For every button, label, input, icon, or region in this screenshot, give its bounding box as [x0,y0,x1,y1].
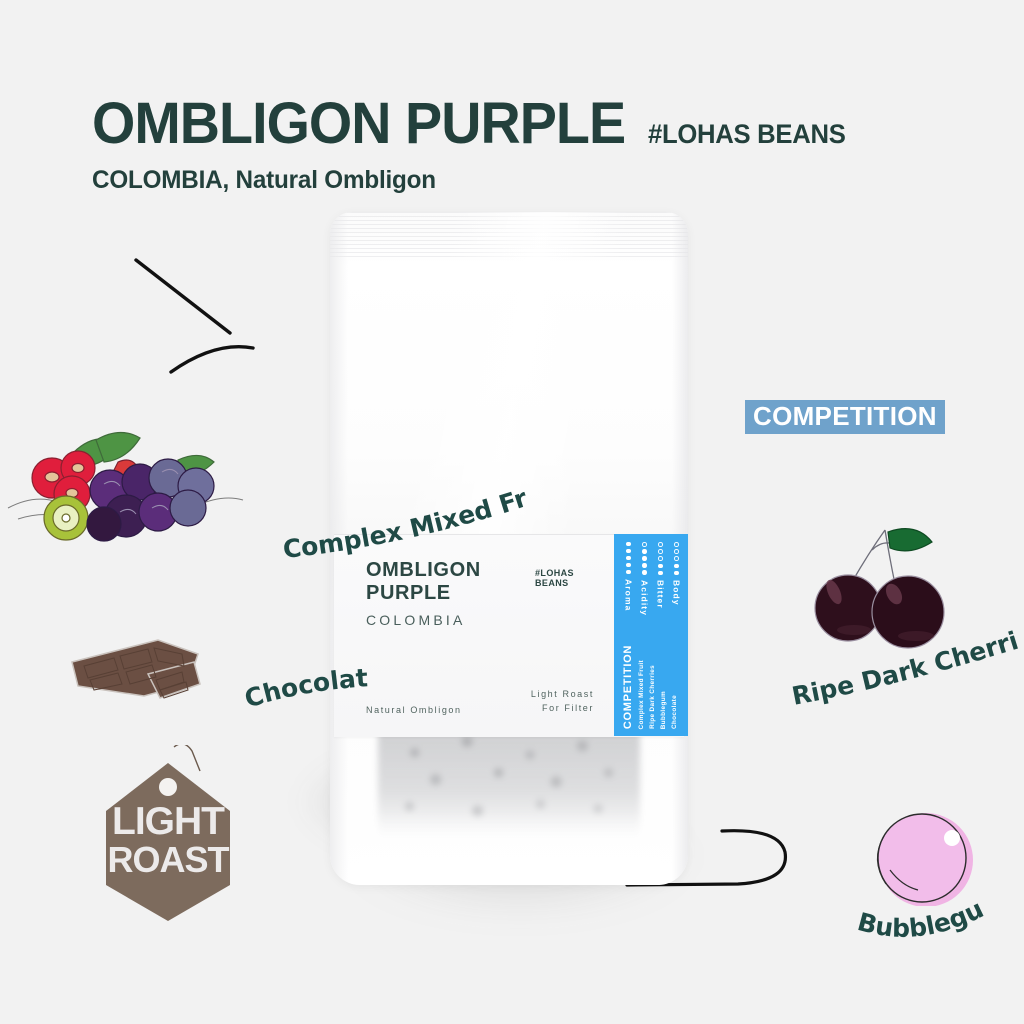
rating-label-bitter: Bitter [656,580,666,609]
callout-label-chocolate: Chocolate [242,666,432,718]
label-roast-method: For Filter [531,702,594,716]
rating-label-body: Body [672,580,682,606]
header: OMBLIGON PURPLE #LOHAS BEANS COLOMBIA, N… [92,95,992,195]
chocolate-bar-icon [48,628,238,718]
cherry-leaf-icon [888,529,932,551]
tasting-note-2: Ripe Dark Cherries [649,665,656,729]
roast-tag-line1: LIGHT [88,803,248,840]
rating-dots-bitter [658,542,663,575]
poster-canvas: OMBLIGON PURPLE #LOHAS BEANS COLOMBIA, N… [0,0,1024,1024]
callout-ripe-dark-cherries: Ripe Dark Cherries [790,522,1024,718]
pointer-line-diagonal [136,260,230,333]
rating-dots-acidity [642,542,647,575]
svg-text:Chocolate: Chocolate [234,643,369,714]
rating-column-bitter: Bitter [655,542,666,616]
callout-label-complex-mixed-fruit: Complex Mixed Fruit [274,500,544,570]
label-blue-strip: Aroma Acidity Bitt [614,534,688,736]
callout-text-chocolate: Chocolate [234,643,369,714]
rating-column-body: Body [671,542,682,616]
rating-label-acidity: Acidity [640,580,650,616]
callout-chocolate: Chocolate [48,628,432,723]
callout-text-complex-mixed-fruit: Complex Mixed Fruit [266,477,532,564]
rating-label-aroma: Aroma [624,579,634,611]
label-roast-level: Light Roast [531,688,594,702]
page-title: OMBLIGON PURPLE [92,95,625,153]
roast-tag-line2: ROAST [88,843,248,878]
brand-hashtag: #LOHAS BEANS [648,121,846,148]
tasting-note-3: Bubblegum [660,691,667,729]
tasting-note-1: Complex Mixed Fruit [638,660,645,730]
rating-column-acidity: Acidity [639,542,650,616]
page-subtitle: COLOMBIA, Natural Ombligon [92,166,965,195]
bubblegum-icon [852,808,1012,906]
callout-complex-mixed-fruit: Complex Mixed Fruit [0,420,544,575]
tasting-notes-block: COMPETITION Complex Mixed Fruit Ripe Dar… [622,645,678,729]
competition-badge: COMPETITION [745,400,945,434]
rating-dots-body [674,542,679,575]
label-roast: Light Roast For Filter [531,688,594,715]
callout-label-ripe-dark-cherries: Ripe Dark Cherries [790,643,1024,713]
rating-dots-aroma [626,542,630,574]
callout-label-bubblegum: Bubblegum [852,901,1022,961]
callout-bubblegum: Bubblegum [852,808,1024,966]
tasting-notes-heading: COMPETITION [622,645,634,729]
svg-text:Complex Mixed Fruit: Complex Mixed Fruit [266,477,532,564]
mixed-fruit-icon [0,420,270,570]
bag-window-fade [360,812,660,885]
pointer-arc-upper-left [171,347,253,372]
tasting-note-4: Chocolate [671,695,678,729]
cherries-icon [790,522,1024,652]
title-row: OMBLIGON PURPLE #LOHAS BEANS [92,95,992,153]
rating-matrix: Aroma Acidity Bitt [623,542,682,616]
rating-column-aroma: Aroma [623,542,634,616]
light-roast-tag: LIGHT ROAST [88,745,248,925]
label-origin: COLOMBIA [366,612,594,628]
